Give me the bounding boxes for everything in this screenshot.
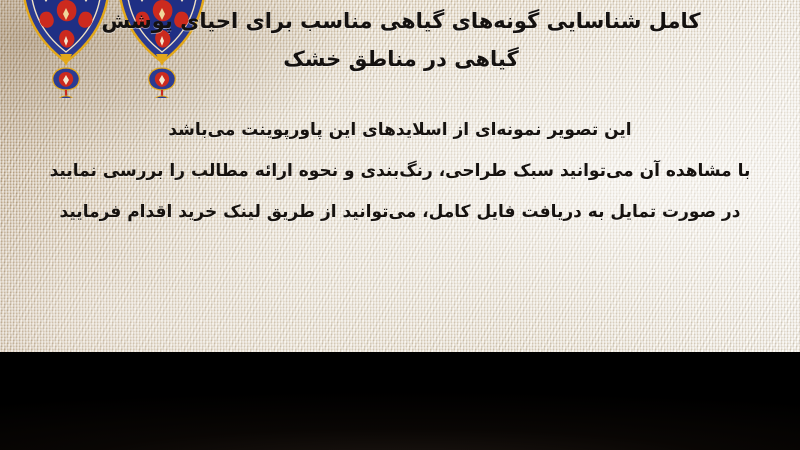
- carpet-fringe-band: [0, 352, 800, 450]
- slide-title-line-2: گیاهی در مناطق خشک: [16, 40, 786, 78]
- fringe-black-background: [0, 352, 800, 450]
- slide-body-line-2: با مشاهده آن می‌توانید سبک طراحی، رنگ‌بن…: [6, 151, 794, 192]
- slide-body-text: این تصویر نمونه‌ای از اسلایدهای این پاور…: [6, 110, 794, 233]
- slide-canvas: کامل شناسایی گونه‌های گیاهی مناسب برای ا…: [0, 0, 800, 450]
- slide-title-line-1: کامل شناسایی گونه‌های گیاهی مناسب برای ا…: [16, 2, 786, 40]
- slide-body-line-3: در صورت تمایل به دریافت فایل کامل، می‌تو…: [6, 192, 794, 233]
- slide-title: کامل شناسایی گونه‌های گیاهی مناسب برای ا…: [16, 2, 786, 78]
- slide-body-line-1: این تصویر نمونه‌ای از اسلایدهای این پاور…: [6, 110, 794, 151]
